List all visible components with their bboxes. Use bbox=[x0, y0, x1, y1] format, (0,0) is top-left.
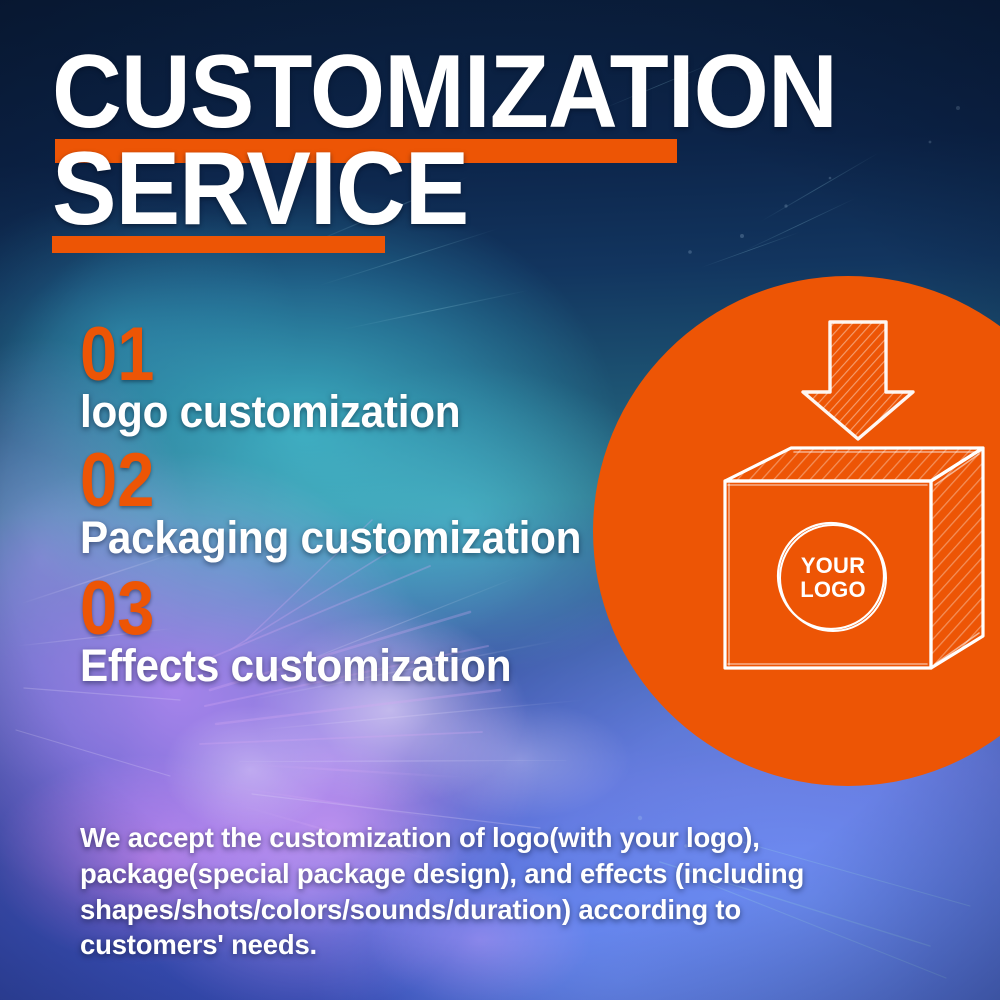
service-item-02: 02 Packaging customization Packaging cus… bbox=[80, 448, 640, 560]
service-item-01-number: 01 bbox=[80, 322, 573, 389]
service-item-03: 03 Effects customization Effects customi… bbox=[80, 576, 640, 688]
logo-badge-line-2: LOGO bbox=[800, 579, 866, 601]
service-item-02-label: Packaging customization bbox=[80, 515, 606, 560]
headline-line-2-row: SERVICE bbox=[52, 141, 752, 238]
headline-block: CUSTOMIZATION SERVICE bbox=[52, 44, 752, 237]
customization-graphic: YOUR LOGO bbox=[593, 276, 1000, 786]
headline-line-2: SERVICE bbox=[52, 141, 703, 238]
service-item-01: 01 logo customization logo customization bbox=[80, 322, 640, 434]
headline-line-1-row: CUSTOMIZATION bbox=[52, 44, 752, 141]
customization-service-banner: CUSTOMIZATION SERVICE 01 logo customizat… bbox=[0, 0, 1000, 1000]
down-arrow-icon bbox=[803, 322, 913, 439]
logo-badge-line-1: YOUR bbox=[801, 555, 865, 577]
service-item-01-label: logo customization bbox=[80, 389, 606, 434]
your-logo-badge: YOUR LOGO bbox=[779, 524, 887, 632]
sketch-illustration bbox=[593, 276, 1000, 786]
service-item-02-number: 02 bbox=[80, 448, 573, 515]
service-items-list: 01 logo customization logo customization… bbox=[80, 322, 640, 688]
body-paragraph: We accept the customization of logo(with… bbox=[80, 820, 850, 963]
headline-line-1: CUSTOMIZATION bbox=[52, 44, 703, 141]
service-item-03-number: 03 bbox=[80, 576, 573, 643]
service-item-03-label: Effects customization bbox=[80, 643, 606, 688]
